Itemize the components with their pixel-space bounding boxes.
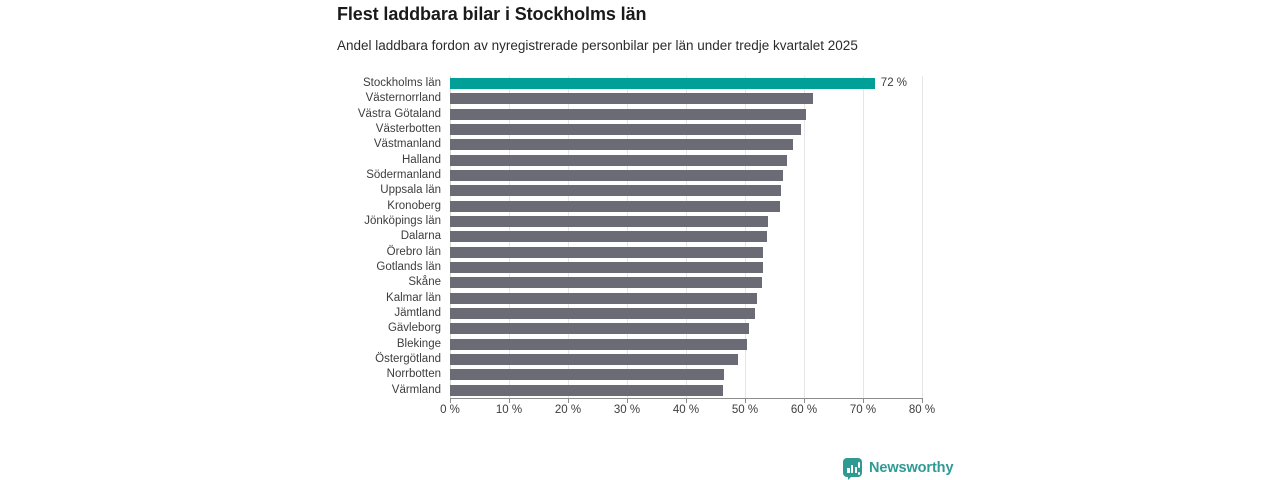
bar-row[interactable] — [450, 291, 922, 306]
bars-region: 72 % — [450, 76, 922, 398]
tick-mark — [745, 398, 746, 403]
category-label: Örebro län — [330, 245, 441, 260]
bar[interactable] — [450, 124, 801, 135]
bar[interactable] — [450, 323, 749, 334]
x-axis-tick-label: 70 % — [850, 404, 876, 416]
bar[interactable] — [450, 385, 723, 396]
brand-name: Newsworthy — [869, 460, 953, 476]
bar[interactable] — [450, 155, 787, 166]
bar-row[interactable] — [450, 137, 922, 152]
category-label: Stockholms län — [330, 76, 441, 91]
category-label: Västmanland — [330, 137, 441, 152]
chart-title: Flest laddbara bilar i Stockholms län — [337, 4, 646, 25]
bar-row[interactable] — [450, 321, 922, 336]
x-axis-tick-label: 0 % — [440, 404, 460, 416]
x-axis-tick-label: 30 % — [614, 404, 640, 416]
x-axis-tick-label: 60 % — [791, 404, 817, 416]
x-axis-tick-label: 40 % — [673, 404, 699, 416]
category-label: Jönköpings län — [330, 214, 441, 229]
category-label: Kalmar län — [330, 291, 441, 306]
newsworthy-logo-icon — [843, 458, 862, 477]
bar-row[interactable] — [450, 214, 922, 229]
category-label: Uppsala län — [330, 183, 441, 198]
bar[interactable] — [450, 308, 755, 319]
bar[interactable] — [450, 354, 738, 365]
tick-mark — [568, 398, 569, 403]
tick-mark — [686, 398, 687, 403]
bar-row[interactable] — [450, 107, 922, 122]
bar-row[interactable] — [450, 337, 922, 352]
bar-row[interactable] — [450, 91, 922, 106]
category-label: Södermanland — [330, 168, 441, 183]
category-label: Dalarna — [330, 229, 441, 244]
bar-row[interactable] — [450, 306, 922, 321]
category-label: Gotlands län — [330, 260, 441, 275]
category-label: Västra Götaland — [330, 107, 441, 122]
bar-row[interactable] — [450, 199, 922, 214]
tick-mark — [804, 398, 805, 403]
bar[interactable] — [450, 93, 813, 104]
tick-mark — [509, 398, 510, 403]
footer-brand: Newsworthy — [843, 458, 953, 477]
x-axis-tick-label: 10 % — [496, 404, 522, 416]
category-label: Västerbotten — [330, 122, 441, 137]
x-axis-ticks: 0 %10 %20 %30 %40 %50 %60 %70 %80 % — [450, 398, 923, 420]
bar-row[interactable] — [450, 245, 922, 260]
chart-subtitle: Andel laddbara fordon av nyregistrerade … — [337, 38, 858, 53]
bar[interactable] — [450, 216, 768, 227]
tick-mark — [922, 398, 923, 403]
bar[interactable] — [450, 231, 767, 242]
category-label: Värmland — [330, 383, 441, 398]
bar-row[interactable] — [450, 168, 922, 183]
bar-row[interactable] — [450, 367, 922, 382]
category-label: Norrbotten — [330, 367, 441, 382]
category-label: Halland — [330, 153, 441, 168]
bar[interactable] — [450, 109, 806, 120]
category-label: Blekinge — [330, 337, 441, 352]
bar[interactable] — [450, 185, 781, 196]
category-label: Kronoberg — [330, 199, 441, 214]
bar-row[interactable] — [450, 352, 922, 367]
bar[interactable] — [450, 139, 793, 150]
category-label: Skåne — [330, 275, 441, 290]
bar-row[interactable] — [450, 260, 922, 275]
category-label: Västernorrland — [330, 91, 441, 106]
category-label: Gävleborg — [330, 321, 441, 336]
bar[interactable] — [450, 293, 757, 304]
tick-mark — [863, 398, 864, 403]
category-label: Jämtland — [330, 306, 441, 321]
bar-row[interactable] — [450, 122, 922, 137]
bar[interactable] — [450, 201, 780, 212]
bar[interactable] — [450, 78, 875, 89]
tick-mark — [627, 398, 628, 403]
bar-row[interactable] — [450, 153, 922, 168]
category-label: Östergötland — [330, 352, 441, 367]
x-axis-tick-label: 80 % — [909, 404, 935, 416]
bar-series: 72 % — [450, 76, 922, 398]
bar[interactable] — [450, 170, 783, 181]
bar[interactable] — [450, 262, 763, 273]
gridline — [922, 76, 923, 398]
bar[interactable] — [450, 277, 762, 288]
bar-value-label: 72 % — [875, 76, 907, 91]
tick-mark — [450, 398, 451, 403]
bar[interactable] — [450, 369, 724, 380]
bar-row[interactable]: 72 % — [450, 76, 922, 91]
bar-row[interactable] — [450, 383, 922, 398]
bar-row[interactable] — [450, 275, 922, 290]
bar-row[interactable] — [450, 229, 922, 244]
x-axis-tick-label: 20 % — [555, 404, 581, 416]
bar[interactable] — [450, 247, 763, 258]
plot-area: Stockholms länVästernorrlandVästra Götal… — [0, 76, 1280, 406]
bar[interactable] — [450, 339, 747, 350]
chart-page: Flest laddbara bilar i Stockholms län An… — [0, 0, 1280, 480]
bar-row[interactable] — [450, 183, 922, 198]
y-axis-category-labels: Stockholms länVästernorrlandVästra Götal… — [330, 76, 441, 398]
x-axis-tick-label: 50 % — [732, 404, 758, 416]
